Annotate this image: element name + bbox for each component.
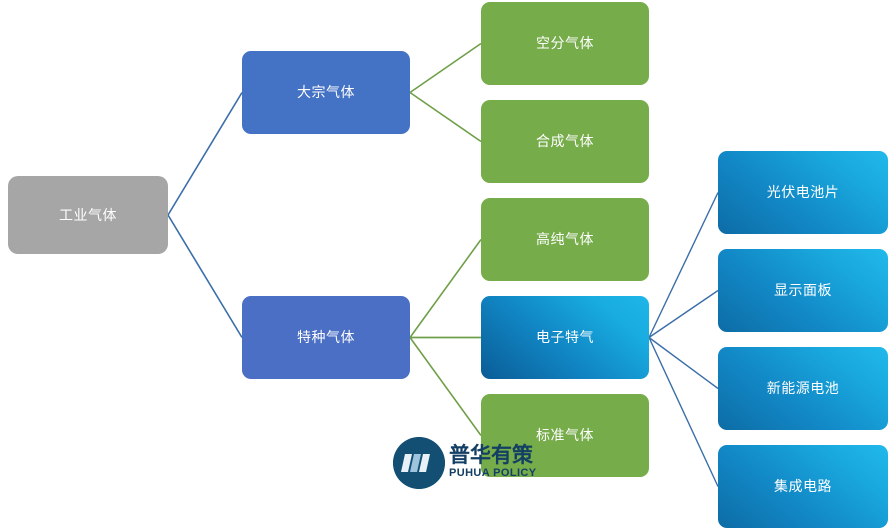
- node-new-energy-battery[interactable]: 新能源电池: [718, 347, 888, 430]
- edge-special-standard: [410, 338, 481, 436]
- node-display-panel[interactable]: 显示面板: [718, 249, 888, 332]
- node-label: 大宗气体: [297, 84, 355, 101]
- node-pv-cell[interactable]: 光伏电池片: [718, 151, 888, 234]
- node-integrated-circuit[interactable]: 集成电路: [718, 445, 888, 528]
- edge-special-high-purity: [410, 240, 481, 338]
- node-high-purity-gas[interactable]: 高纯气体: [481, 198, 649, 281]
- edge-electronic-display-panel: [649, 291, 718, 338]
- node-label: 显示面板: [774, 282, 832, 299]
- node-air-separation-gas[interactable]: 空分气体: [481, 2, 649, 85]
- edge-electronic-integrated-circuit: [649, 338, 718, 487]
- node-label: 合成气体: [536, 133, 594, 150]
- edge-bulk-air-sep: [410, 44, 481, 93]
- puhua-policy-logo-icon: [393, 437, 445, 489]
- node-specialty-gas[interactable]: 特种气体: [242, 296, 410, 379]
- node-bulk-gas[interactable]: 大宗气体: [242, 51, 410, 134]
- node-label: 空分气体: [536, 35, 594, 52]
- node-electronic-specialty-gas[interactable]: 电子特气: [481, 296, 649, 379]
- node-industrial-gas[interactable]: 工业气体: [8, 176, 168, 254]
- node-synthetic-gas[interactable]: 合成气体: [481, 100, 649, 183]
- node-label: 光伏电池片: [767, 184, 840, 201]
- node-label: 标准气体: [536, 427, 594, 444]
- diagram-canvas: 工业气体 大宗气体 特种气体 空分气体 合成气体 高纯气体 电子特气 标准气体 …: [0, 0, 892, 528]
- edge-root-bulk: [168, 93, 242, 216]
- edge-bulk-synthetic: [410, 93, 481, 142]
- node-label: 工业气体: [59, 207, 117, 224]
- node-label: 新能源电池: [767, 380, 840, 397]
- node-label: 集成电路: [774, 478, 832, 495]
- node-label: 高纯气体: [536, 231, 594, 248]
- edge-electronic-new-energy-battery: [649, 338, 718, 389]
- edge-root-special: [168, 215, 242, 338]
- node-standard-gas[interactable]: 标准气体: [481, 394, 649, 477]
- node-label: 特种气体: [297, 329, 355, 346]
- node-label: 电子特气: [536, 329, 594, 346]
- edge-electronic-pv-cell: [649, 193, 718, 338]
